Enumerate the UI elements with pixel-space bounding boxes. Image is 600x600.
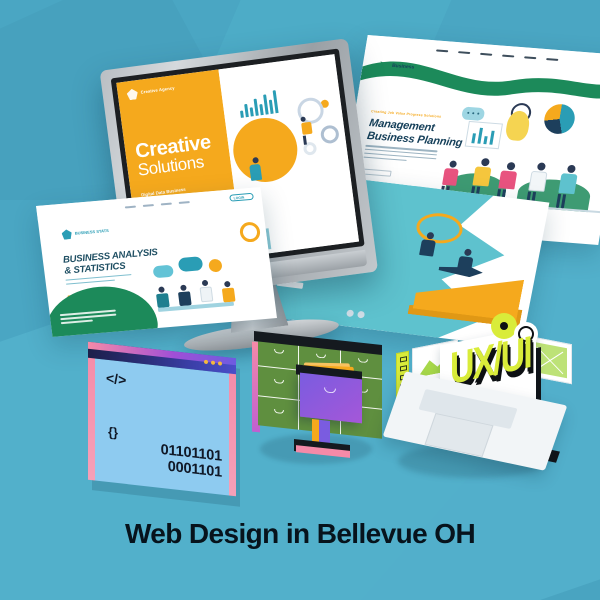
mbp-pie-chart-icon [542,103,577,135]
ba-person-2 [177,284,192,306]
ba-green-blob [41,282,162,337]
ba-nav-item-4[interactable] [179,201,190,204]
filing-cabinet-illustration[interactable] [252,338,394,480]
sm-person-1 [419,231,438,256]
cs-gear-icon-2 [320,124,340,144]
code-brace-icon: {} [108,424,118,440]
cs-title: Creative Solutions [134,133,214,179]
window-button-1[interactable] [204,360,208,364]
window-button-2[interactable] [211,360,215,364]
cabinet-handle-1[interactable] [274,349,284,354]
code-window-illustration[interactable]: </> {} 01101101 0001101 [88,342,236,497]
code-window-left-edge [88,342,95,481]
cabinet-open-drawer[interactable] [300,373,362,424]
cs-logo-text: Creative Agency [141,86,176,95]
mbp-chart-board [465,121,503,149]
mbp-nav-item-4[interactable] [502,55,514,58]
ba-bubble-amber [208,259,223,273]
cabinet-handle-3[interactable] [358,358,368,363]
mbp-logo-arrow-icon [378,60,390,71]
code-tag-icon: </> [106,370,126,388]
illustration-canvas: Business Creating Job Value Progress Sol… [0,0,600,600]
ba-bubble-1 [153,265,174,279]
cs-amber-circle [230,114,302,186]
code-binary-text: 01101101 0001101 [161,441,222,480]
ba-title: BUSINESS ANALYSIS & STATISTICS [62,248,159,277]
ba-bubble-2 [178,256,204,272]
cs-bar-chart [238,90,279,118]
ba-person-4 [221,281,236,303]
cs-runner-figure [300,115,321,143]
ba-logo-badge-icon [61,229,72,240]
mbp-lightbulb-icon [504,110,531,141]
gear-icon-lime-center [500,322,508,330]
window-button-3[interactable] [218,361,222,365]
pencil-tool-icon[interactable] [400,356,407,362]
mbp-nav-item-6[interactable] [546,58,558,61]
ba-gear-icon [239,221,261,243]
brush-tool-icon[interactable] [400,365,407,371]
ba-logo-text: BUSINESS STATS [75,229,110,237]
ba-person-3 [199,280,214,303]
ba-login-button[interactable]: LOGIN [229,193,254,202]
cabinet-handle-7[interactable] [274,409,284,414]
code-window-right-edge [229,358,236,497]
business-analysis-card[interactable]: LOGIN BUSINESS STATS BUSINESS ANALYSIS &… [36,187,277,337]
mbp-nav-item-1[interactable] [436,49,448,52]
ba-nav-item-2[interactable] [143,204,154,207]
ba-nav-item-3[interactable] [161,203,172,206]
mbp-nav-item-2[interactable] [458,51,470,54]
page-title: Web Design in Bellevue OH [0,518,600,550]
cs-logo-badge-icon [126,88,138,100]
mbp-nav-item-3[interactable] [480,53,492,56]
ba-person-1 [155,286,170,308]
mbp-nav-item-5[interactable] [524,56,536,59]
uxui-laptop-illustration[interactable]: UX/UI [378,314,578,490]
cs-logo[interactable]: Creative Agency [126,83,175,100]
ba-logo[interactable]: BUSINESS STATS [61,226,109,240]
mbp-logo-text: Business [391,63,414,71]
cabinet-handle-4[interactable] [274,379,284,384]
cabinet-handle-2[interactable] [316,354,326,359]
ba-login-label: LOGIN [233,196,244,201]
mbp-speech-bubble [461,106,485,121]
ba-nav-item-1[interactable] [125,206,136,209]
